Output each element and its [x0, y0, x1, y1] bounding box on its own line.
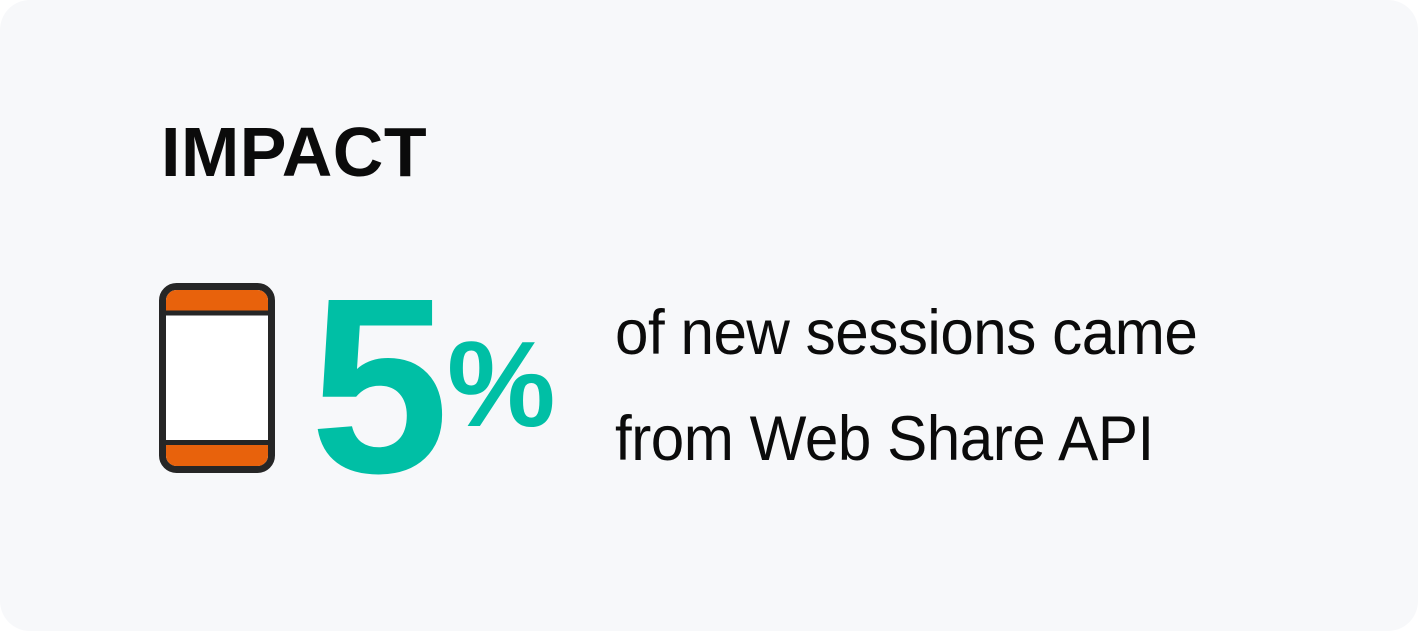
stat-value: 5 — [310, 284, 443, 488]
stat-description: of new sessions came from Web Share API — [615, 280, 1315, 492]
impact-card: IMPACT 5 % of new sessions came from Web… — [0, 0, 1418, 631]
page-title: IMPACT — [161, 112, 427, 192]
stat-unit: % — [447, 282, 553, 486]
stat-description-line-2: from Web Share API — [615, 386, 1284, 492]
mobile-phone-icon — [155, 276, 279, 480]
stat-figure: 5 % — [310, 258, 554, 488]
stat-description-line-1: of new sessions came — [615, 280, 1284, 386]
